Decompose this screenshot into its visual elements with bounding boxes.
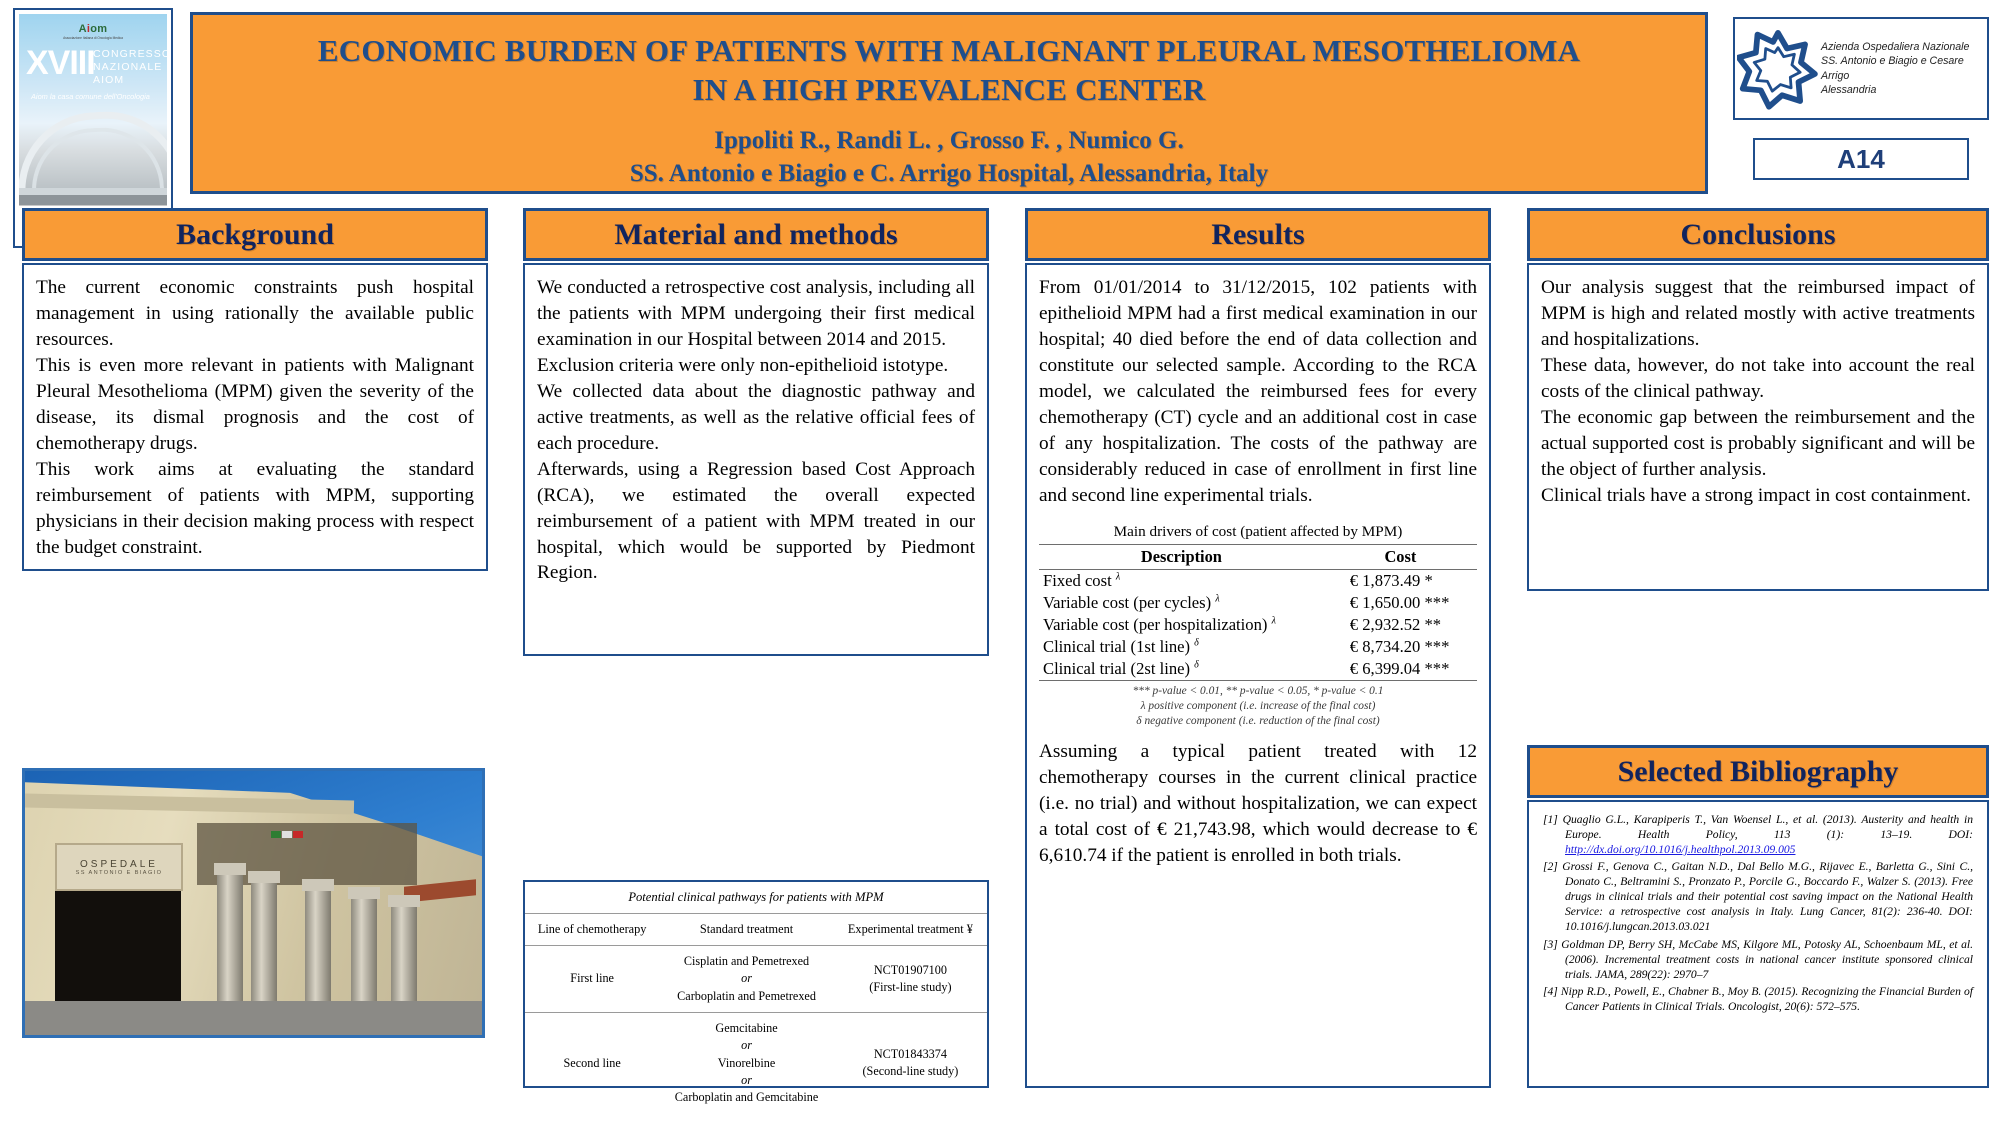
cost-note-2: λ positive component (i.e. increase of t… [1039,699,1477,714]
pathways-row1-line: First line [525,945,659,1012]
hospital-logo-box: Azienda Ospedaliera Nazionale SS. Antoni… [1733,17,1989,120]
list-item: [3] Goldman DP, Berry SH, McCabe MS, Kil… [1543,937,1973,982]
hospital-sign: OSPEDALE SS ANTONIO E BIAGIO [55,843,183,891]
hospital-name-line1: Azienda Ospedaliera Nazionale [1821,40,1987,54]
bridge-illustration-icon [19,102,167,210]
pathways-row2-line: Second line [525,1012,659,1113]
pathways-col-line: Line of chemotherapy [525,913,659,945]
section-heading-methods: Material and methods [523,208,989,261]
flags-icon [271,831,309,853]
hospital-name: Azienda Ospedaliera Nazionale SS. Antoni… [1821,40,1987,97]
cost-row5-description: Clinical trial (2st line) δ [1039,658,1324,681]
cost-table-notes: *** p-value < 0.01, ** p-value < 0.05, *… [1039,681,1477,729]
cost-drivers-table: Main drivers of cost (patient affected b… [1039,523,1477,729]
congress-name-line3: AIOM [93,74,167,87]
section-heading-results: Results [1025,208,1491,261]
section-heading-conclusions: Conclusions [1527,208,1989,261]
table-row: Second line Gemcitabine or Vinorelbine o… [525,1012,987,1113]
conclusions-paragraph-3: The economic gap between the reimburseme… [1541,405,1975,483]
hospital-star-icon [1737,28,1819,110]
hospital-name-line2: SS. Antonio e Biagio e Cesare Arrigo [1821,54,1987,83]
pathways-row1-standard: Cisplatin and Pemetrexed or Carboplatin … [659,945,834,1012]
cost-row3-description: Variable cost (per hospitalization) λ [1039,614,1324,636]
aiom-brand-subtitle: Associazione Italiana di Oncologia Medic… [63,36,123,40]
congress-roman-numeral: XVIII [26,47,95,79]
bib-entry-1-text: [1] Quaglio G.L., Karapiperis T., Van Wo… [1543,813,1973,841]
methods-paragraph-2: Exclusion criteria were only non-epithel… [537,353,975,379]
author-block: Ippoliti R., Randi L. , Grosso F. , Numi… [630,125,1268,190]
methods-paragraph-4: Afterwards, using a Regression based Cos… [537,457,975,587]
conclusions-paragraph-4: Clinical trials have a strong impact in … [1541,483,1975,509]
hospital-sign-line1: OSPEDALE [80,859,158,870]
cost-row1-description: Fixed cost λ [1039,569,1324,592]
section-body-background: The current economic constraints push ho… [22,263,488,571]
congress-tagline: Aiom la casa comune dell'Oncologia [31,92,150,101]
affiliation: SS. Antonio e Biagio e C. Arrigo Hospita… [630,158,1268,191]
results-closing-paragraph: Assuming a typical patient treated with … [1039,739,1477,869]
background-paragraph-1: The current economic constraints push ho… [36,275,474,353]
congress-name-line2: NAZIONALE [93,61,167,74]
background-paragraph-2: This is even more relevant in patients w… [36,353,474,457]
hospital-name-line3: Alessandria [1821,83,1987,97]
list-item: [2] Grossi F., Genova C., Gaitan N.D., D… [1543,859,1973,934]
methods-paragraph-1: We conducted a retrospective cost analys… [537,275,975,353]
section-body-results: From 01/01/2014 to 31/12/2015, 102 patie… [1025,263,1491,1088]
page-title-line2: IN A HIGH PREVALENCE CENTER [318,70,1580,109]
section-heading-bibliography: Selected Bibliography [1527,745,1989,798]
background-paragraph-3: This work aims at evaluating the standar… [36,457,474,561]
title-banner: ECONOMIC BURDEN OF PATIENTS WITH MALIGNA… [190,12,1708,194]
page-title: ECONOMIC BURDEN OF PATIENTS WITH MALIGNA… [318,31,1580,109]
conclusions-paragraph-1: Our analysis suggest that the reimbursed… [1541,275,1975,353]
hospital-sign-line2: SS ANTONIO E BIAGIO [76,870,163,876]
cost-row4-cost: € 8,734.20 *** [1324,636,1477,658]
pathways-col-experimental: Experimental treatment ¥ [834,913,987,945]
cost-table-title: Main drivers of cost (patient affected b… [1039,523,1477,544]
table-row: Variable cost (per hospitalization) λ € … [1039,614,1477,636]
cost-row4-description: Clinical trial (1st line) δ [1039,636,1324,658]
aiom-brand-icon: Aiom [79,23,108,35]
section-heading-background: Background [22,208,488,261]
pathways-row1-experimental: NCT01907100 (First-line study) [834,945,987,1012]
list-item: [4] Nipp R.D., Powell, E., Chabner B., M… [1543,984,1973,1014]
table-row: Fixed cost λ € 1,873.49 * [1039,569,1477,592]
methods-paragraph-3: We collected data about the diagnostic p… [537,379,975,457]
cost-row5-cost: € 6,399.04 *** [1324,658,1477,681]
table-row: Variable cost (per cycles) λ € 1,650.00 … [1039,592,1477,614]
cost-col-description: Description [1039,544,1324,569]
section-body-bibliography: [1] Quaglio G.L., Karapiperis T., Van Wo… [1527,800,1989,1088]
poster-root: Aiom Associazione Italiana di Oncologia … [0,0,2000,1125]
page-title-line1: ECONOMIC BURDEN OF PATIENTS WITH MALIGNA… [318,31,1580,70]
pathways-table: Potential clinical pathways for patients… [523,880,989,1088]
pathways-row2-experimental: NCT01843374 (Second-line study) [834,1012,987,1113]
conclusions-paragraph-2: These data, however, do not take into ac… [1541,353,1975,405]
section-body-methods: We conducted a retrospective cost analys… [523,263,989,656]
cost-note-1: *** p-value < 0.01, ** p-value < 0.05, *… [1039,684,1477,699]
cost-row2-cost: € 1,650.00 *** [1324,592,1477,614]
pathways-table-caption: Potential clinical pathways for patients… [525,882,987,913]
list-item: [1] Quaglio G.L., Karapiperis T., Van Wo… [1543,812,1973,857]
table-row: First line Cisplatin and Pemetrexed or C… [525,945,987,1012]
results-paragraph-1: From 01/01/2014 to 31/12/2015, 102 patie… [1039,275,1477,509]
bibliography-list: [1] Quaglio G.L., Karapiperis T., Van Wo… [1543,812,1973,1014]
cost-note-3: δ negative component (i.e. reduction of … [1039,714,1477,729]
congress-name-line1: CONGRESSO [93,48,167,61]
cost-row3-cost: € 2,932.52 ** [1324,614,1477,636]
cost-row1-cost: € 1,873.49 * [1324,569,1477,592]
bib-entry-1-link[interactable]: http://dx.doi.org/10.1016/j.healthpol.20… [1565,843,1795,856]
section-body-conclusions: Our analysis suggest that the reimbursed… [1527,263,1989,591]
pathways-row2-standard: Gemcitabine or Vinorelbine or Carboplati… [659,1012,834,1113]
pathways-col-standard: Standard treatment [659,913,834,945]
cost-row2-description: Variable cost (per cycles) λ [1039,592,1324,614]
authors: Ippoliti R., Randi L. , Grosso F. , Numi… [630,125,1268,158]
hospital-photo: OSPEDALE SS ANTONIO E BIAGIO [22,768,485,1038]
abstract-code-badge: A14 [1753,138,1969,180]
congress-name: CONGRESSO NAZIONALE AIOM [93,48,167,86]
cost-col-cost: Cost [1324,544,1477,569]
table-row: Clinical trial (2st line) δ € 6,399.04 *… [1039,658,1477,681]
table-row: Clinical trial (1st line) δ € 8,734.20 *… [1039,636,1477,658]
